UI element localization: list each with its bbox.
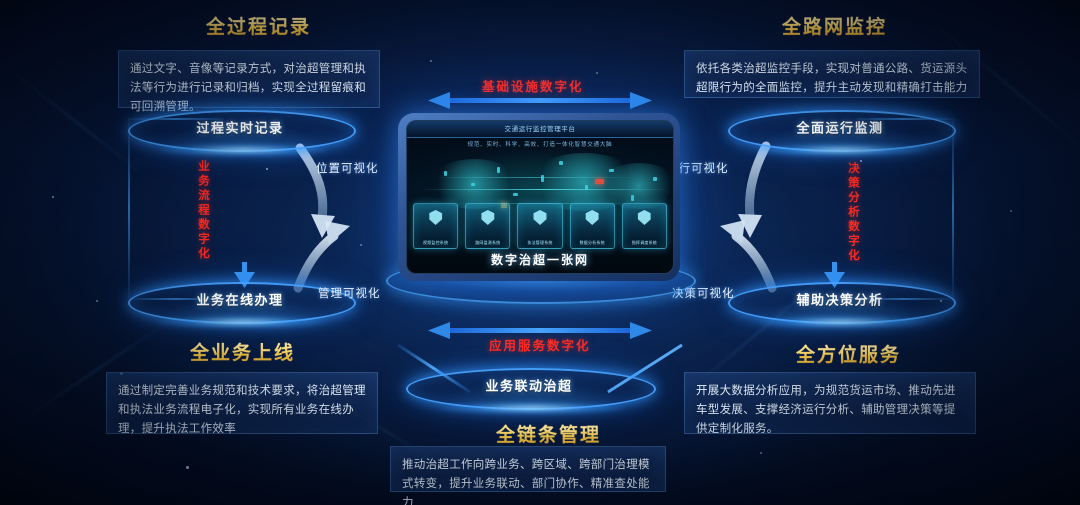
chart-shield-icon — [586, 210, 599, 225]
label-position-visualization: 位置可视化 — [316, 160, 379, 176]
screen-card[interactable]: 路网监测系统 — [465, 203, 510, 249]
heading-bottom-center: 全链条管理 — [496, 420, 601, 447]
curved-arrow-management — [298, 221, 350, 288]
label-management-visualization: 管理可视化 — [318, 285, 381, 301]
star-dot — [430, 60, 432, 62]
screen-card-row: 视频监控系统 路网监测系统 执法管理系统 数据分析系统 指挥调度系统 — [413, 203, 667, 247]
heading-top-left: 全过程记录 — [206, 12, 311, 39]
screen-card-label: 数据分析系统 — [571, 240, 614, 246]
map-route — [433, 177, 633, 178]
node-top-right[interactable]: 全面运行监测 — [728, 110, 952, 148]
star-dot — [760, 452, 762, 454]
screen-card[interactable]: 数据分析系统 — [570, 203, 615, 249]
center-device[interactable]: 交通运行监控管理平台 规范、实时、科学、高效、打造一体化智慧交通大脑 — [398, 113, 680, 281]
star-dot — [596, 72, 598, 74]
map-node — [609, 169, 614, 172]
node-label: 过程实时记录 — [128, 118, 352, 137]
axis-label-right: 决策分析数字化 — [846, 162, 862, 264]
node-bottom-center[interactable]: 业务联动治超 — [406, 368, 652, 406]
screen-subtitle: 规范、实时、科学、高效、打造一体化智慧交通大脑 — [407, 140, 673, 148]
description-top-right: 依托各类治超监控手段，实现对普通公路、货运源头超限行为的全面监控，提升主动发现和… — [684, 50, 980, 98]
screen-card[interactable]: 指挥调度系统 — [622, 203, 667, 249]
heading-bottom-right: 全方位服务 — [796, 340, 901, 367]
node-top-left[interactable]: 过程实时记录 — [128, 110, 352, 148]
map-node — [497, 167, 500, 173]
network-shield-icon — [481, 210, 494, 225]
axis-label-left: 业务流程数字化 — [196, 160, 212, 262]
curved-arrow-operation — [738, 146, 766, 238]
mic-shield-icon — [638, 210, 651, 225]
heading-bottom-left: 全业务上线 — [190, 338, 295, 365]
description-bottom-center: 推动治超工作向跨业务、跨区域、跨部门治理模式转变，提升业务联动、部门协作、精准查… — [390, 446, 666, 492]
map-node-highlight — [595, 179, 604, 184]
description-top-left: 通过文字、音像等记录方式，对治超管理和执法等行为进行记录和归档，实现全过程留痕和… — [118, 50, 380, 108]
lock-shield-icon — [533, 210, 546, 225]
screen-card-label: 视频监控系统 — [414, 240, 457, 246]
screen-header-title: 交通运行监控管理平台 — [407, 123, 673, 133]
axis-label-bottom: 应用服务数字化 — [489, 335, 591, 354]
map-node — [513, 193, 518, 196]
screen-card[interactable]: 视频监控系统 — [413, 203, 458, 249]
node-bottom-right[interactable]: 辅助决策分析 — [728, 282, 952, 320]
map-node — [444, 171, 447, 176]
map-node — [471, 183, 475, 186]
star-dot — [96, 300, 98, 302]
star-dot — [52, 196, 54, 198]
infographic-canvas: 全过程记录 通过文字、音像等记录方式，对治超管理和执法等行为进行记录和归档，实现… — [0, 0, 1080, 505]
star-dot — [360, 244, 362, 246]
star-dot — [1010, 210, 1012, 212]
screen-card-label: 执法管理系统 — [518, 240, 561, 246]
screen-main-label: 数字治超一张网 — [407, 251, 673, 268]
map-route — [419, 189, 669, 190]
node-label: 全面运行监测 — [728, 118, 952, 137]
description-bottom-left: 通过制定完善业务规范和技术要求，将治超管理和执法业务流程电子化，实现所有业务在线… — [106, 372, 378, 434]
map-node — [631, 195, 634, 201]
star-dot — [186, 466, 189, 469]
star-dot — [266, 168, 268, 170]
axis-label-top: 基础设施数字化 — [482, 76, 584, 95]
description-bottom-right: 开展大数据分析应用，为规范货运市场、推动先进车型发展、支撑经济运行分析、辅助管理… — [684, 372, 976, 434]
image-shield-icon — [429, 210, 442, 225]
map-node — [585, 185, 588, 190]
heading-top-right: 全路网监控 — [782, 12, 887, 39]
screen-card-label: 路网监测系统 — [466, 240, 509, 246]
curved-arrow-decision — [720, 220, 772, 288]
device-screen: 交通运行监控管理平台 规范、实时、科学、高效、打造一体化智慧交通大脑 — [406, 120, 674, 274]
node-label: 业务联动治超 — [406, 376, 652, 395]
node-label: 辅助决策分析 — [728, 290, 952, 309]
screen-card-label: 指挥调度系统 — [623, 240, 666, 246]
map-node — [653, 177, 657, 181]
screen-card[interactable]: 执法管理系统 — [517, 203, 562, 249]
connector-right-vertical — [952, 118, 954, 298]
map-node — [559, 161, 563, 165]
map-node — [541, 175, 544, 182]
